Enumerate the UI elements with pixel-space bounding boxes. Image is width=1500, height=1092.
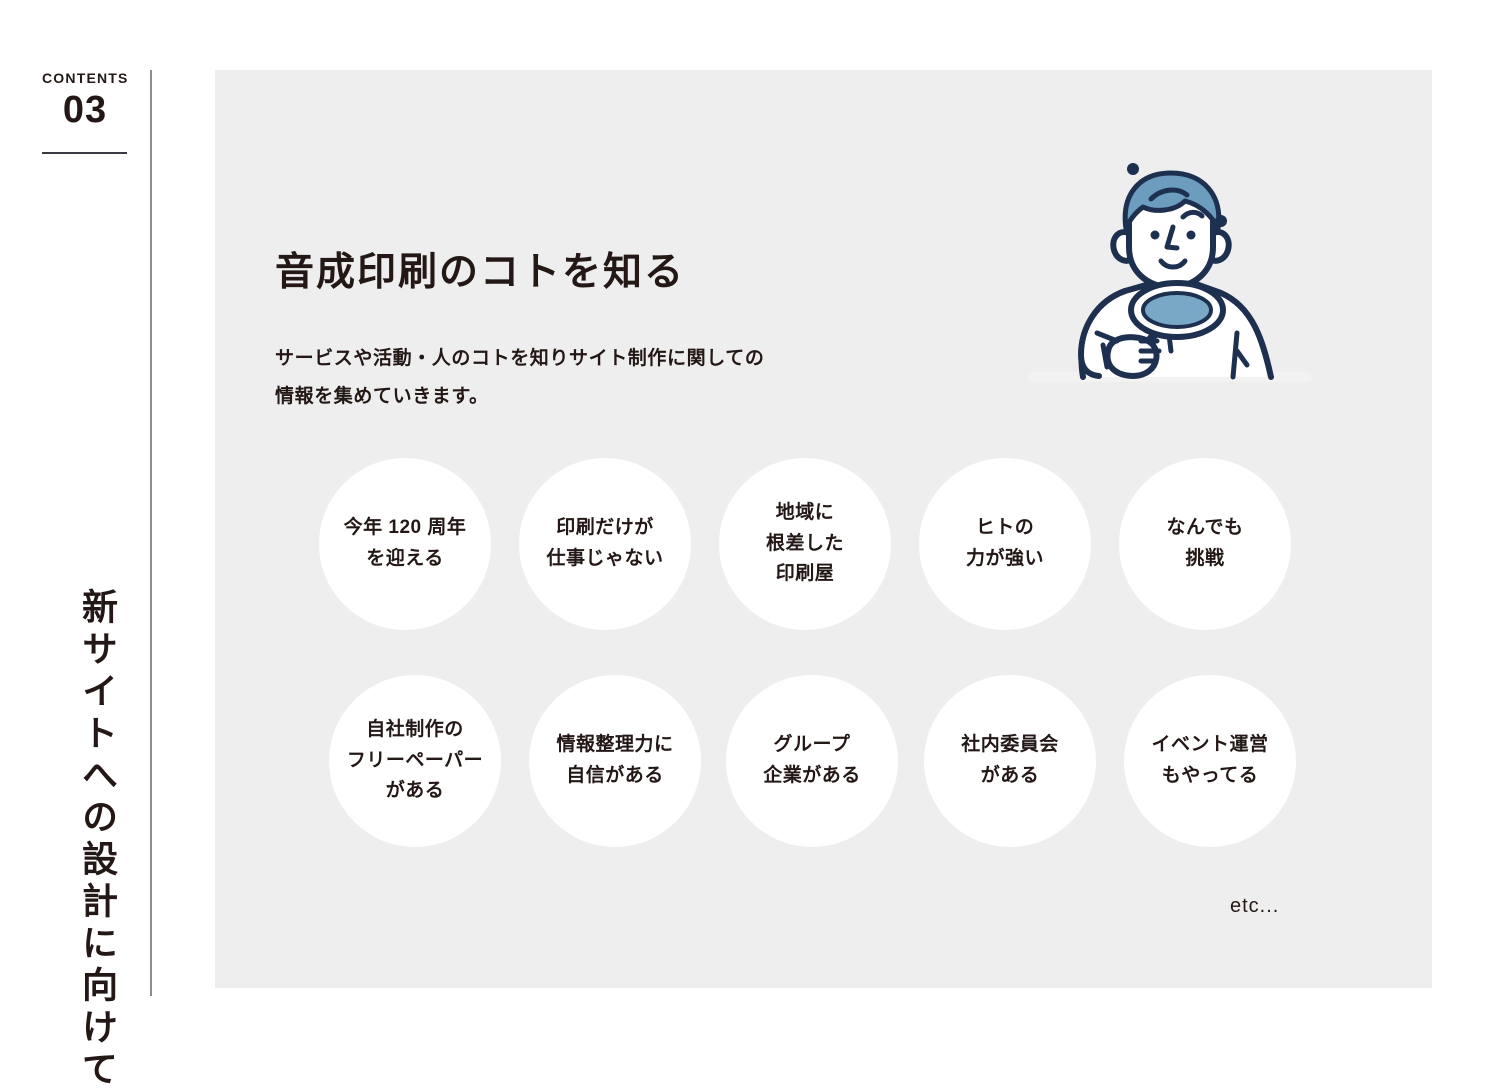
- bubble-7[interactable]: 情報整理力に自信がある: [529, 675, 701, 847]
- bubble-6[interactable]: 自社制作のフリーペーパーがある: [329, 675, 501, 847]
- bubble-3-label: 地域に根差した印刷屋: [766, 498, 844, 590]
- bubble-7-label: 情報整理力に自信がある: [556, 730, 673, 792]
- contents-block: CONTENTS 03: [42, 70, 128, 132]
- contents-underline: [42, 152, 127, 154]
- bubble-5[interactable]: なんでも挑戦: [1119, 458, 1291, 630]
- content-panel: 音成印刷のコトを知る サービスや活動・人のコトを知りサイト制作に関しての 情報を…: [215, 70, 1432, 988]
- contents-label: CONTENTS: [42, 70, 128, 87]
- bubble-2[interactable]: 印刷だけが仕事じゃない: [519, 458, 691, 630]
- etc-label: etc...: [1230, 895, 1279, 918]
- bubble-8[interactable]: グループ企業がある: [726, 675, 898, 847]
- bubble-9[interactable]: 社内委員会がある: [924, 675, 1096, 847]
- bubble-3[interactable]: 地域に根差した印刷屋: [719, 458, 891, 630]
- section-vertical-title: 新サイトへの設計に向けて: [56, 588, 116, 1092]
- bubble-grid: 今年 120 周年を迎える印刷だけが仕事じゃない地域に根差した印刷屋ヒトの力が強…: [215, 70, 1432, 988]
- bubble-8-label: グループ企業がある: [763, 730, 861, 792]
- bubble-4[interactable]: ヒトの力が強い: [919, 458, 1091, 630]
- bubble-2-label: 印刷だけが仕事じゃない: [546, 513, 663, 575]
- bubble-10[interactable]: イベント運営もやってる: [1124, 675, 1296, 847]
- bubble-1[interactable]: 今年 120 周年を迎える: [319, 458, 491, 630]
- bubble-6-label: 自社制作のフリーペーパーがある: [347, 715, 483, 807]
- bubble-4-label: ヒトの力が強い: [966, 513, 1044, 575]
- bubble-9-label: 社内委員会がある: [961, 730, 1059, 792]
- bubble-10-label: イベント運営もやってる: [1151, 730, 1268, 792]
- contents-number: 03: [42, 89, 128, 133]
- bubble-5-label: なんでも挑戦: [1166, 513, 1243, 575]
- rail-divider: [150, 70, 152, 996]
- bubble-1-label: 今年 120 周年を迎える: [344, 513, 467, 575]
